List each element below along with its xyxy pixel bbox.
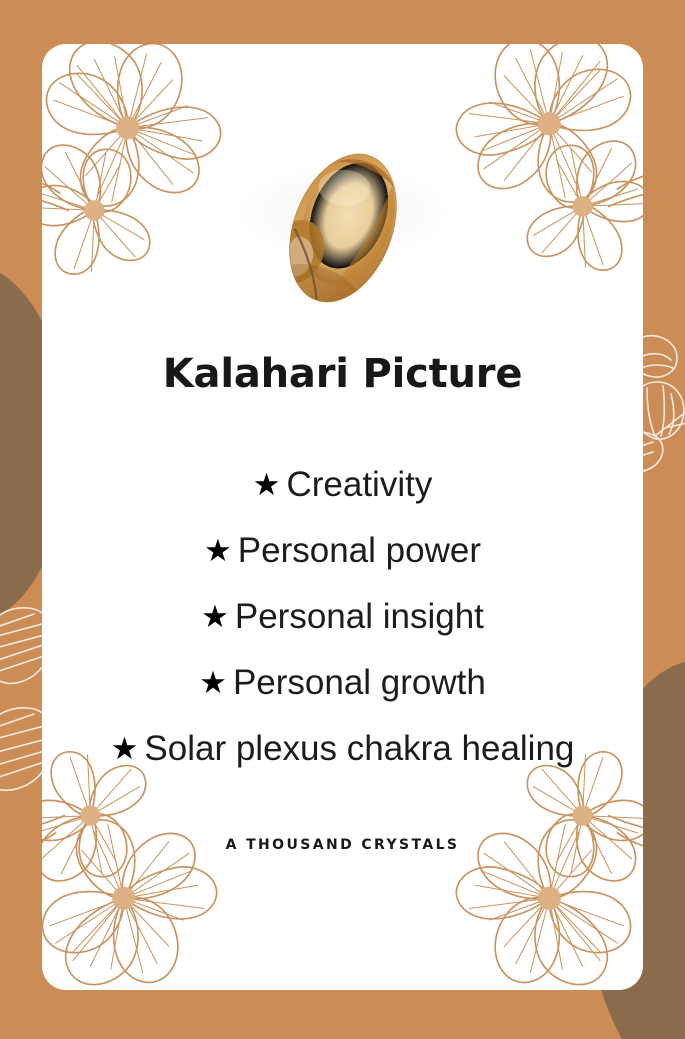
product-card: Kalahari Picture ★Creativity ★Personal p…: [42, 44, 643, 990]
page-title: Kalahari Picture: [42, 354, 643, 394]
list-item: ★Creativity: [42, 467, 643, 502]
list-item: ★Personal insight: [42, 599, 643, 634]
star-icon: ★: [204, 533, 238, 568]
benefit-label: Solar plexus chakra healing: [144, 729, 574, 768]
benefit-label: Creativity: [286, 465, 432, 504]
benefit-list: ★Creativity ★Personal power ★Personal in…: [42, 467, 643, 766]
product-image-area: [42, 44, 643, 344]
benefit-label: Personal growth: [233, 663, 486, 702]
tumbled-oval-jasper-stone-icon: [253, 130, 432, 326]
list-item: ★Personal power: [42, 533, 643, 568]
benefit-label: Personal power: [238, 531, 481, 570]
star-icon: ★: [201, 599, 235, 634]
list-item: ★Solar plexus chakra healing: [42, 731, 643, 766]
star-icon: ★: [253, 467, 287, 502]
card-content: Kalahari Picture ★Creativity ★Personal p…: [42, 354, 643, 852]
brand-name: A THOUSAND CRYSTALS: [42, 838, 643, 852]
list-item: ★Personal growth: [42, 665, 643, 700]
star-icon: ★: [111, 731, 145, 766]
star-icon: ★: [199, 665, 233, 700]
crystal-info-poster: Kalahari Picture ★Creativity ★Personal p…: [0, 0, 685, 1039]
benefit-label: Personal insight: [235, 597, 484, 636]
